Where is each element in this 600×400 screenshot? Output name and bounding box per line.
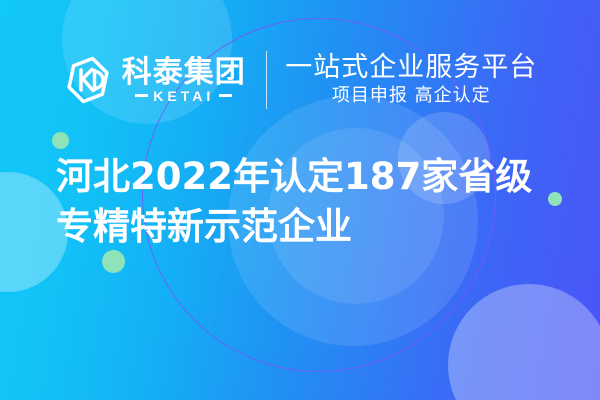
tagline-block: 一站式企业服务平台 项目申报 高企认定: [285, 54, 537, 105]
tagline-sub: 项目申报 高企认定: [285, 86, 537, 106]
promo-banner: 科泰集团 KETAI 一站式企业服务平台 项目申报 高企认定 河北2022年认定…: [0, 0, 600, 400]
decor-green-dot: [102, 250, 125, 273]
brand-lockup[interactable]: 科泰集团 KETAI: [63, 55, 246, 105]
tagline-main: 一站式企业服务平台: [285, 54, 537, 82]
brand-name-en: KETAI: [153, 89, 214, 103]
ketai-logo-icon: [63, 55, 113, 105]
decor-large-circle-bottom-right: [448, 284, 600, 400]
brand-rule-right-icon: [219, 94, 232, 97]
decor-green-dot: [52, 132, 69, 149]
page-title: 河北2022年认定187家省级专精特新示范企业: [56, 152, 556, 252]
brand-rule-left-icon: [135, 94, 148, 97]
header-divider: [266, 51, 268, 109]
brand-name-en-row: KETAI: [135, 89, 232, 103]
brand-name-cn: 科泰集团: [122, 58, 246, 88]
brand-wordmark: 科泰集团 KETAI: [122, 58, 246, 103]
banner-header: 科泰集团 KETAI 一站式企业服务平台 项目申报 高企认定: [0, 40, 600, 120]
